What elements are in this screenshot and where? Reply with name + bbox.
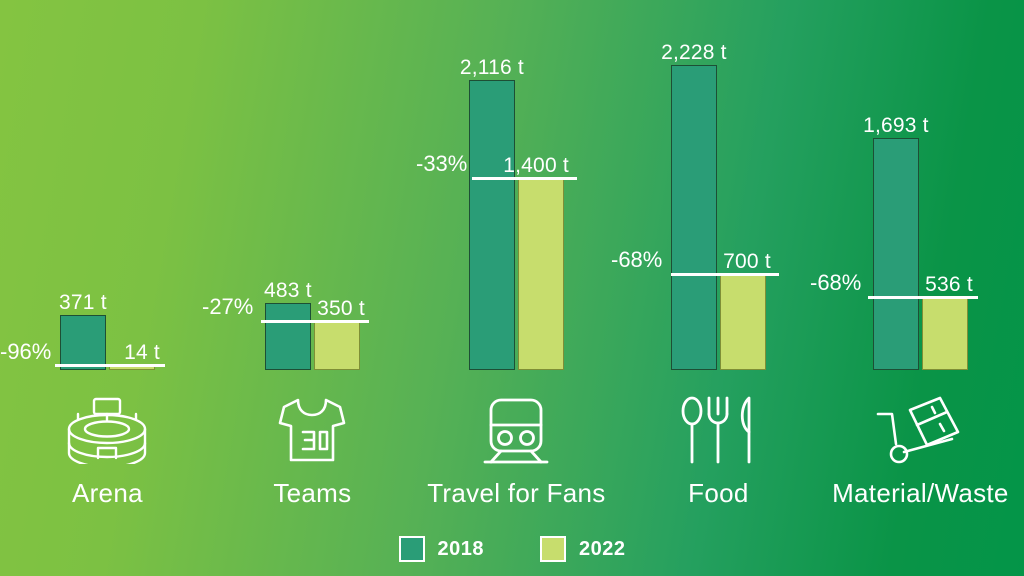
reference-line: [261, 320, 369, 323]
change-percent-label: -68%: [611, 249, 662, 271]
legend-item-2018[interactable]: 2018: [399, 536, 485, 562]
category-label: Arena: [5, 480, 210, 506]
bar-chart: 371 t 14 t -96% Arena 483: [0, 0, 1024, 576]
bar-group-food: 2,228 t 700 t -68% Food: [616, 0, 821, 576]
bar-group-teams: 483 t 350 t -27% Teams: [210, 0, 415, 576]
bar-group-travel-for-fans: 2,116 t 1,400 t -33% Travel for Fans: [414, 0, 619, 576]
bar-pair: 371 t 14 t: [5, 40, 210, 370]
jersey-icon: [210, 392, 415, 464]
bar-2018[interactable]: 371 t: [60, 315, 106, 370]
bar-2022[interactable]: 1,400 t: [518, 178, 564, 370]
bar-value-label-2022: 14 t: [124, 342, 160, 363]
bar-value-label-2018: 1,693 t: [863, 115, 929, 136]
legend-item-2022[interactable]: 2022: [540, 536, 626, 562]
reference-line: [671, 273, 779, 276]
change-percent-label: -27%: [202, 296, 253, 318]
chart-legend: 2018 2022: [0, 536, 1024, 562]
change-percent-label: -68%: [810, 272, 861, 294]
legend-swatch-2022: [540, 536, 566, 562]
hand-truck-icon: [818, 392, 1023, 464]
bar-pair: 1,693 t 536 t: [818, 40, 1023, 370]
stadium-icon: [5, 392, 210, 464]
legend-swatch-2018: [399, 536, 425, 562]
change-percent-label: -33%: [416, 153, 467, 175]
bar-2022[interactable]: 700 t: [720, 274, 766, 370]
bar-2022[interactable]: 350 t: [314, 321, 360, 370]
bar-value-label-2018: 2,228 t: [661, 42, 727, 63]
bar-2018[interactable]: 2,116 t: [469, 80, 515, 370]
bar-2018[interactable]: 483 t: [265, 303, 311, 370]
legend-label-2018: 2018: [438, 538, 485, 561]
bar-value-label-2022: 700 t: [723, 251, 771, 272]
bar-value-label-2018: 483 t: [264, 280, 312, 301]
bar-value-label-2018: 2,116 t: [460, 57, 524, 78]
bar-pair: 2,116 t 1,400 t: [414, 40, 619, 370]
bar-pair: 2,228 t 700 t: [616, 40, 821, 370]
category-label: Travel for Fans: [414, 480, 619, 506]
bar-value-label-2022: 536 t: [925, 274, 973, 295]
category-label: Teams: [210, 480, 415, 506]
reference-line: [868, 296, 978, 299]
change-percent-label: -96%: [0, 341, 51, 363]
bar-value-label-2022: 350 t: [317, 298, 365, 319]
bar-value-label-2018: 371 t: [59, 292, 107, 313]
cutlery-icon: [616, 392, 821, 464]
bar-group-arena: 371 t 14 t -96% Arena: [5, 0, 210, 576]
category-label: Food: [616, 480, 821, 506]
reference-line: [472, 177, 577, 180]
legend-label-2022: 2022: [579, 538, 626, 561]
bar-group-material-waste: 1,693 t 536 t -68% Material/Waste: [818, 0, 1023, 576]
category-label: Material/Waste: [818, 480, 1023, 506]
bar-value-label-2022: 1,400 t: [503, 155, 569, 176]
reference-line: [55, 364, 165, 367]
bar-2022[interactable]: 536 t: [922, 297, 968, 370]
bar-2018[interactable]: 2,228 t: [671, 65, 717, 370]
bar-2018[interactable]: 1,693 t: [873, 138, 919, 370]
train-icon: [414, 392, 619, 464]
